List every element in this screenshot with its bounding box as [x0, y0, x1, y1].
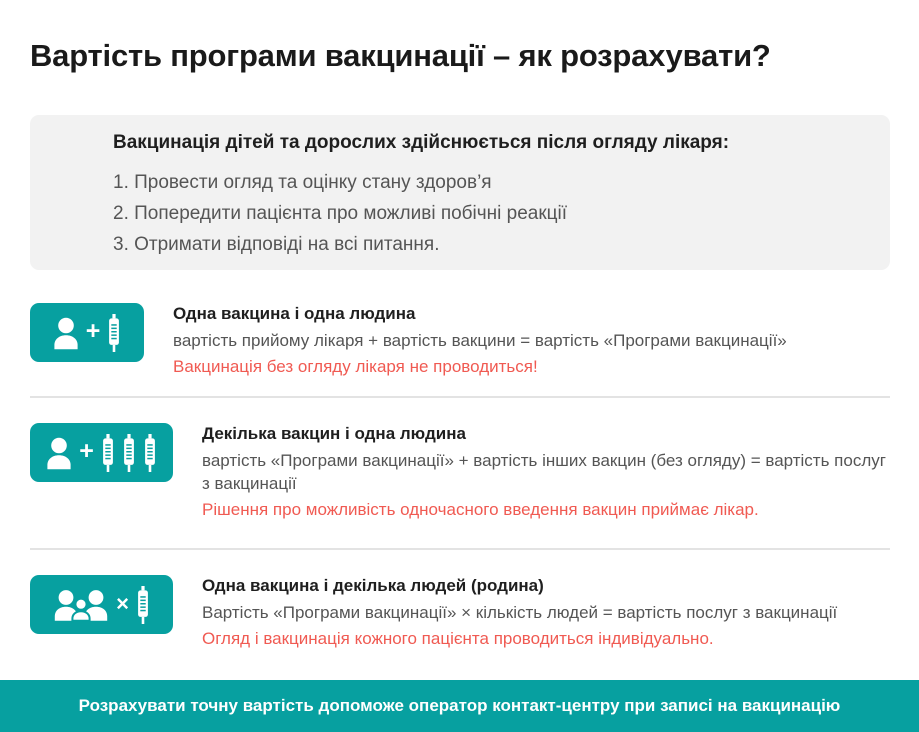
row-divider — [30, 396, 890, 398]
doctor-examination-note-box: Вакцинація дітей та дорослих здійснюєтьс… — [30, 115, 890, 270]
scenario-text-block: Одна вакцина і декілька людей (родина) В… — [202, 575, 890, 651]
scenario-formula: Вартість «Програми вакцинації» × кількіс… — [202, 602, 890, 625]
list-item: 3. Отримати відповіді на всі питання. — [113, 229, 870, 260]
syringe-icon — [122, 434, 136, 472]
footer-banner: Розрахувати точну вартість допоможе опер… — [0, 680, 919, 732]
person-icon — [53, 316, 79, 350]
icon-badge-person-plus-syringe: + — [30, 303, 144, 362]
plus-sign: + — [79, 439, 94, 464]
scenario-warning: Рішення про можливість одночасного введе… — [202, 499, 890, 522]
row-divider — [30, 548, 890, 550]
times-sign: × — [116, 593, 129, 615]
scenario-text-block: Одна вакцина і одна людина вартість прий… — [173, 303, 890, 379]
scenario-row-one-vaccine-one-person: + Одна вакцина і одна людина вартість пр… — [30, 303, 890, 379]
note-box-heading: Вакцинація дітей та дорослих здійснюєтьс… — [113, 131, 870, 156]
person-icon — [46, 436, 72, 470]
scenario-formula: вартість «Програми вакцинації» + вартіст… — [202, 450, 890, 496]
scenario-row-several-vaccines-one-person: + — [30, 423, 890, 522]
scenario-formula: вартість прийому лікаря + вартість вакци… — [173, 330, 890, 353]
page-title: Вартість програми вакцинації – як розрах… — [30, 38, 890, 74]
syringe-icon — [107, 314, 121, 352]
syringe-icon — [101, 434, 115, 472]
syringe-icon — [136, 586, 150, 624]
family-group-icon — [53, 588, 109, 622]
scenario-text-block: Декілька вакцин і одна людина вартість «… — [202, 423, 890, 522]
plus-sign: + — [86, 319, 101, 344]
scenario-warning: Вакцинація без огляду лікаря не проводит… — [173, 356, 890, 379]
list-item: 1. Провести огляд та оцінку стану здоров… — [113, 167, 870, 198]
scenario-title: Декілька вакцин і одна людина — [202, 423, 890, 444]
syringe-icon — [143, 434, 157, 472]
list-item: 2. Попередити пацієнта про можливі побіч… — [113, 198, 870, 229]
scenario-title: Одна вакцина і одна людина — [173, 303, 890, 324]
note-box-steps-list: 1. Провести огляд та оцінку стану здоров… — [113, 167, 870, 260]
scenario-row-one-vaccine-several-people: × Одна вакцина і декілька людей (родина)… — [30, 575, 890, 651]
scenario-warning: Огляд і вакцинація кожного пацієнта пров… — [202, 628, 890, 651]
icon-badge-family-times-syringe: × — [30, 575, 173, 634]
icon-badge-person-plus-three-syringes: + — [30, 423, 173, 482]
footer-text: Розрахувати точну вартість допоможе опер… — [59, 696, 861, 716]
scenario-title: Одна вакцина і декілька людей (родина) — [202, 575, 890, 596]
